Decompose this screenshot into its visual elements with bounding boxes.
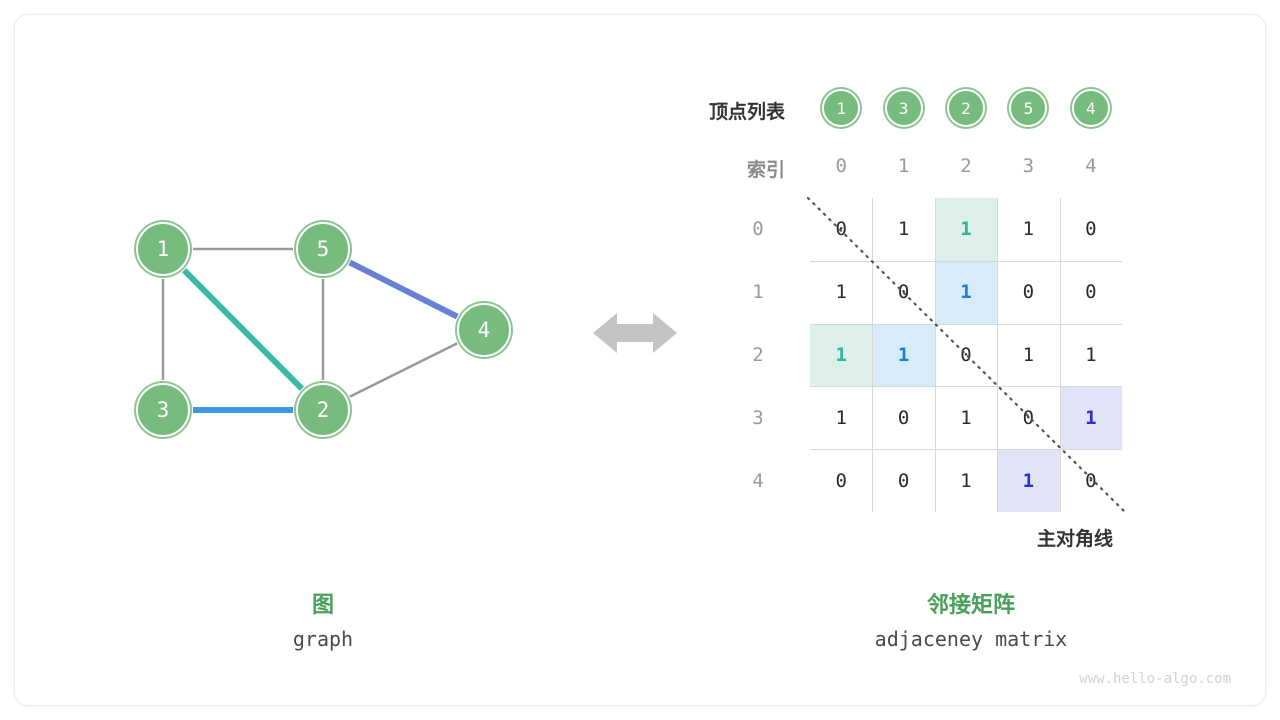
graph-node-5[interactable]: 5 [296,222,350,276]
matrix-caption-cn: 邻接矩阵 [841,587,1101,619]
graph-node-1[interactable]: 1 [136,222,190,276]
graph-node-4[interactable]: 4 [457,303,511,357]
main-diagonal-label: 主对角线 [1037,524,1113,551]
diagram-card: 15324 顶点列表 索引 13254 01234 01234 01110101… [14,14,1266,706]
graph-node-label: 2 [317,398,330,422]
graph-node-2[interactable]: 2 [296,383,350,437]
graph-node-label: 5 [317,237,330,261]
watermark: www.hello-algo.com [1079,671,1231,687]
graph-node-label: 4 [478,318,491,342]
graph-caption-en: graph [223,627,423,651]
graph-caption-cn: 图 [223,587,423,619]
graph-node-label: 1 [157,237,170,261]
matrix-caption-en: adjaceney matrix [841,627,1101,651]
graph-node-3[interactable]: 3 [136,383,190,437]
graph-node-label: 3 [157,398,170,422]
